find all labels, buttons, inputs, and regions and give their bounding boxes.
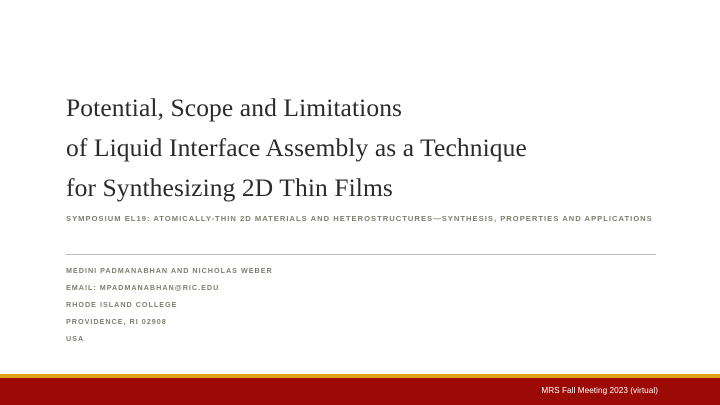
slide-title: Potential, Scope and Limitations of Liqu…	[66, 88, 666, 208]
authors-line: MEDINI PADMANABHAN AND NICHOLAS WEBER	[66, 262, 273, 279]
symposium-subtitle: SYMPOSIUM EL19: ATOMICALLY-THIN 2D MATER…	[66, 214, 653, 223]
email-line: EMAIL: MPADMANABHAN@RIC.EDU	[66, 279, 273, 296]
institution-line: RHODE ISLAND COLLEGE	[66, 296, 273, 313]
footer-meeting-label: MRS Fall Meeting 2023 (virtual)	[541, 386, 658, 395]
title-line-1: Potential, Scope and Limitations	[66, 88, 666, 128]
title-line-3: for Synthesizing 2D Thin Films	[66, 168, 666, 208]
country-line: USA	[66, 330, 273, 347]
author-info-block: MEDINI PADMANABHAN AND NICHOLAS WEBER EM…	[66, 262, 273, 347]
horizontal-divider	[66, 254, 656, 255]
city-state-zip-line: PROVIDENCE, RI 02908	[66, 313, 273, 330]
presentation-slide: Potential, Scope and Limitations of Liqu…	[0, 0, 720, 405]
title-line-2: of Liquid Interface Assembly as a Techni…	[66, 128, 666, 168]
